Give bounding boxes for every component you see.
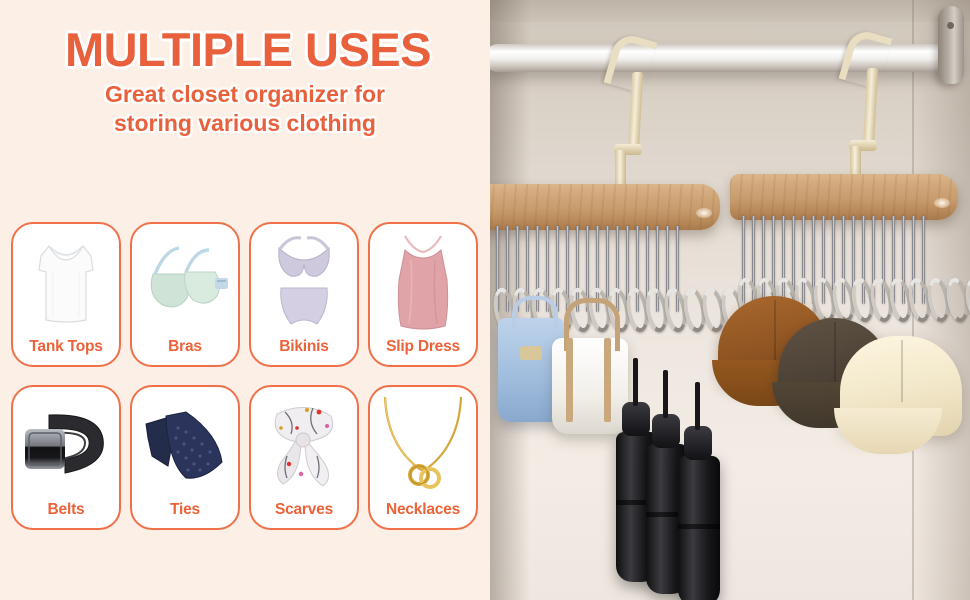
umbrella-band (678, 524, 720, 529)
wood-highlight (934, 198, 950, 208)
category-card-scarves[interactable]: Scarves (249, 385, 359, 530)
wooden-hanger-bar (730, 174, 958, 220)
bra-icon (132, 230, 238, 334)
bikini-icon (251, 230, 357, 334)
white-handbag (552, 338, 628, 434)
umbrella-shaft (695, 382, 700, 430)
tank-top-icon (13, 230, 119, 334)
black-umbrella (678, 456, 720, 600)
category-label: Necklaces (386, 501, 460, 528)
umbrella-shaft (663, 370, 668, 418)
subtitle-line-2: storing various clothing (0, 109, 490, 138)
slip-dress-icon (370, 230, 476, 334)
category-label: Slip Dress (386, 338, 460, 365)
left-content-panel: MULTIPLE USES Great closet organizer for… (0, 0, 490, 600)
category-label: Bikinis (279, 338, 328, 365)
category-card-necklaces[interactable]: Necklaces (368, 385, 478, 530)
cap-seam (834, 322, 836, 384)
wooden-hanger-bar (490, 184, 720, 230)
category-card-slip-dress[interactable]: Slip Dress (368, 222, 478, 367)
umbrella-handle (652, 414, 680, 448)
tie-icon (132, 393, 238, 497)
category-label: Bras (168, 338, 202, 365)
category-label: Belts (48, 501, 85, 528)
scarf-icon (251, 393, 357, 497)
category-card-tank-tops[interactable]: Tank Tops (11, 222, 121, 367)
necklace-icon (370, 393, 476, 497)
umbrella-handle (622, 402, 650, 436)
rod-wall-bracket (938, 6, 964, 84)
bag-strap-right (604, 338, 611, 422)
category-label: Tank Tops (29, 338, 102, 365)
category-card-bikinis[interactable]: Bikinis (249, 222, 359, 367)
category-card-grid: Tank Tops Bras (11, 222, 479, 530)
category-card-bras[interactable]: Bras (130, 222, 240, 367)
page-title: MULTIPLE USES (0, 26, 490, 74)
category-label: Scarves (275, 501, 333, 528)
category-label: Ties (170, 501, 200, 528)
belt-icon (13, 393, 119, 497)
closet-ceiling (490, 0, 970, 22)
umbrella-handle (684, 426, 712, 460)
product-photo (490, 0, 970, 600)
bag-strap-left (566, 338, 573, 422)
page-subtitle: Great closet organizer for storing vario… (0, 80, 490, 138)
cream-baseball-cap (840, 336, 962, 436)
subtitle-line-1: Great closet organizer for (0, 80, 490, 109)
category-card-ties[interactable]: Ties (130, 385, 240, 530)
wood-highlight (696, 208, 712, 218)
category-card-belts[interactable]: Belts (11, 385, 121, 530)
cap-seam (774, 300, 776, 362)
headline-block: MULTIPLE USES Great closet organizer for… (0, 0, 490, 138)
umbrella-shaft (633, 358, 638, 406)
infographic-root: MULTIPLE USES Great closet organizer for… (0, 0, 970, 600)
cap-seam (901, 340, 903, 402)
